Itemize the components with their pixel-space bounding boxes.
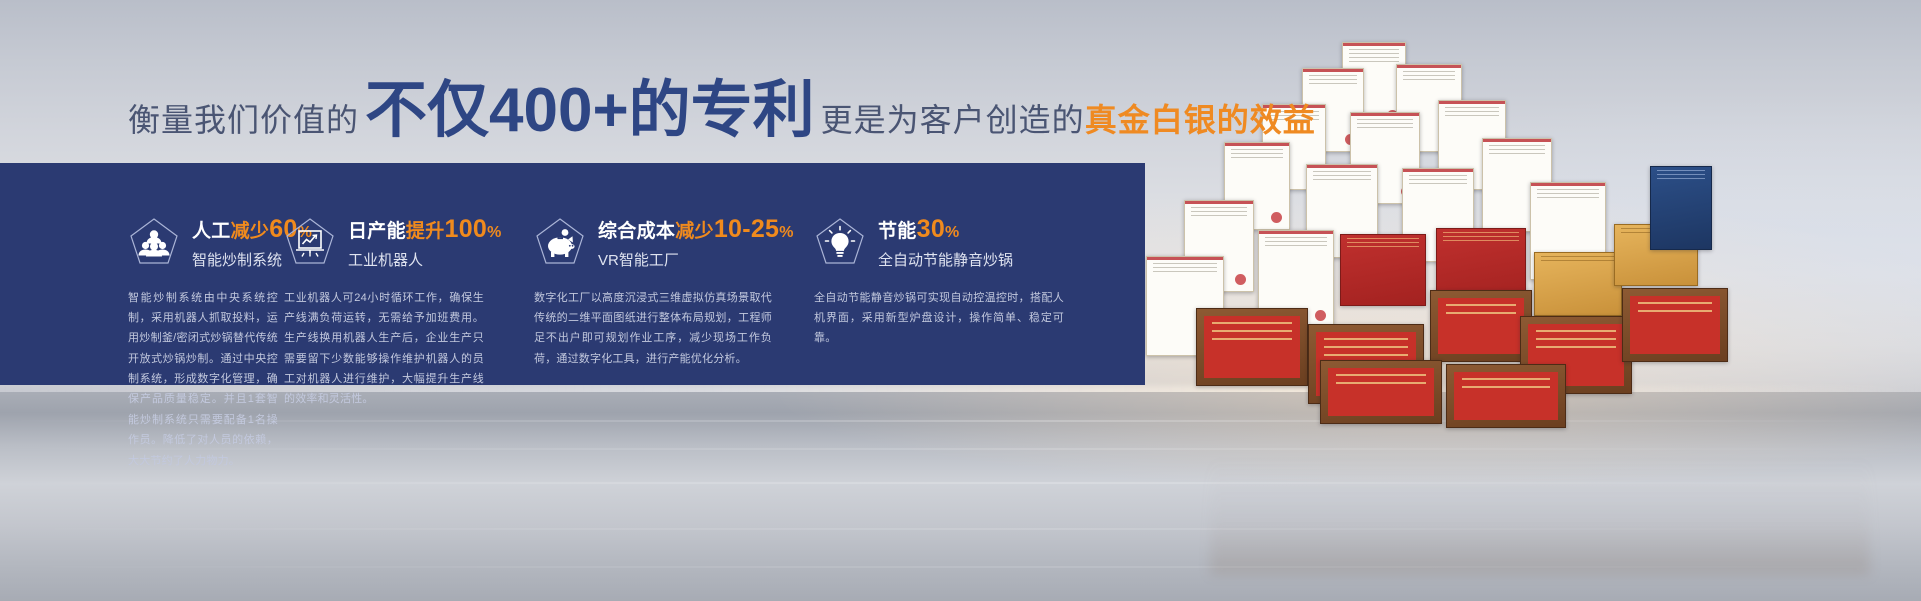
feature-subtitle: 工业机器人 — [348, 249, 502, 270]
feature-body: 数字化工厂以高度沉浸式三维虚拟仿真场景取代传统的二维平面图纸进行整体布局规划，工… — [534, 288, 772, 369]
award-plaque — [1622, 288, 1728, 362]
lightbulb-icon — [814, 216, 866, 268]
feature-titles: 节能30% 全自动节能静音炒锅 — [878, 215, 1013, 270]
headline-accent: 真金白银的效益 — [1085, 95, 1316, 141]
feature-header: 节能30% 全自动节能静音炒锅 — [814, 215, 1086, 270]
award-plaque — [1320, 360, 1442, 424]
feature-title-action: 提升 — [406, 221, 445, 242]
feature-body: 智能炒制系统由中央系统控制，采用机器人抓取投料，运用炒制釜/密闭式炒锅替代传统开… — [128, 288, 278, 471]
feature-item-capacity: 日产能提升100% 工业机器人 工业机器人可24小时循环工作，确保生产线满负荷运… — [272, 163, 524, 385]
feature-titles: 日产能提升100% 工业机器人 — [348, 215, 502, 270]
award-plaque — [1446, 364, 1566, 428]
feature-header: 综合成本减少10-25% VR智能工厂 — [534, 215, 786, 270]
feature-title-action: 减少 — [675, 221, 714, 242]
feature-title: 综合成本减少10-25% — [598, 215, 794, 244]
feature-list: 人工减少60% 智能炒制系统 智能炒制系统由中央系统控制，采用机器人抓取投料，运… — [0, 163, 1145, 385]
stack-reflection — [1210, 455, 1870, 575]
headline-middle: 更是为客户创造的 — [821, 95, 1085, 141]
feature-title-number: 100 — [445, 215, 488, 243]
piggy-bank-icon — [534, 216, 586, 268]
feature-header: 日产能提升100% 工业机器人 — [284, 215, 506, 270]
feature-body: 工业机器人可24小时循环工作，确保生产线满负荷运转，无需给予加班费用。生产线换用… — [284, 288, 484, 410]
feature-title-unit: % — [779, 224, 794, 241]
award-plaque — [1196, 308, 1308, 386]
feature-subtitle: VR智能工厂 — [598, 249, 794, 270]
banner-stage: 衡量我们价值的 不仅400+的专利 更是为客户创造的 真金白银的效益 — [0, 0, 1921, 601]
feature-title: 日产能提升100% — [348, 215, 502, 244]
feature-title-unit: % — [945, 224, 960, 241]
feature-title-unit: % — [487, 224, 502, 241]
feature-titles: 综合成本减少10-25% VR智能工厂 — [598, 215, 794, 270]
feature-title-action: 减少 — [231, 221, 270, 242]
feature-title-number: 30 — [917, 215, 945, 243]
award-plaque — [1430, 290, 1532, 362]
certificate-item — [1534, 252, 1622, 316]
feature-body: 全自动节能静音炒锅可实现自动控温控时，搭配人机界面，采用新型炉盘设计，操作简单、… — [814, 288, 1064, 349]
feature-title-action: 节能 — [878, 221, 917, 242]
feature-title: 节能30% — [878, 215, 1013, 244]
certificate-item — [1650, 166, 1712, 250]
feature-item-cost: 综合成本减少10-25% VR智能工厂 数字化工厂以高度沉浸式三维虚拟仿真场景取… — [524, 163, 804, 385]
people-group-icon — [128, 216, 180, 268]
headline-prefix: 衡量我们价值的 — [128, 95, 359, 141]
feature-header: 人工减少60% 智能炒制系统 — [128, 215, 254, 270]
feature-title-lead: 综合成本 — [598, 221, 675, 242]
feature-item-energy: 节能30% 全自动节能静音炒锅 全自动节能静音炒锅可实现自动控温控时，搭配人机界… — [804, 163, 1104, 385]
certificate-item — [1340, 234, 1426, 306]
feature-title-lead: 日产能 — [348, 221, 406, 242]
feature-subtitle: 全自动节能静音炒锅 — [878, 249, 1013, 270]
chart-board-icon — [284, 216, 336, 268]
feature-item-labor: 人工减少60% 智能炒制系统 智能炒制系统由中央系统控制，采用机器人抓取投料，运… — [0, 163, 272, 385]
feature-title-number: 10-25 — [714, 215, 779, 243]
headline-strong: 不仅400+的专利 — [365, 80, 815, 142]
headline: 衡量我们价值的 不仅400+的专利 更是为客户创造的 真金白银的效益 — [128, 80, 1316, 142]
feature-title-lead: 人工 — [192, 221, 231, 242]
